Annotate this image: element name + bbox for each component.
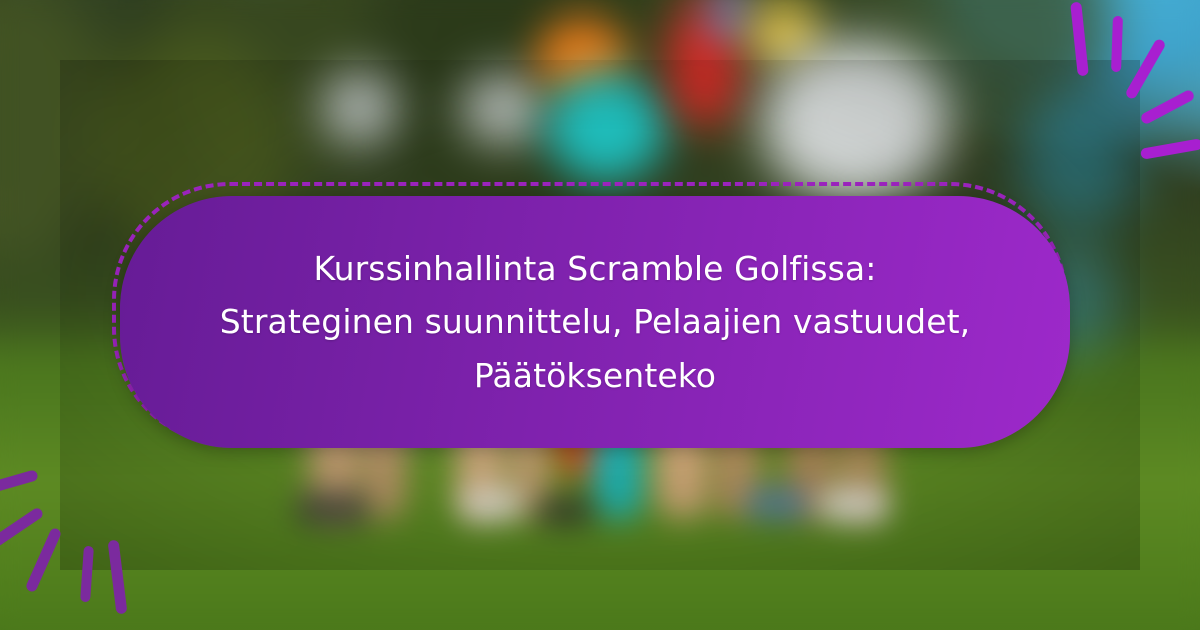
sparkle-dash — [1111, 16, 1123, 72]
sparkle-dash — [1139, 89, 1195, 126]
sparkle-dash — [80, 546, 94, 603]
sparkle-dash — [1124, 38, 1167, 101]
sparkle-dash — [0, 506, 45, 548]
sparkle-dash — [1140, 138, 1200, 160]
page-title: Kurssinhallinta Scramble Golfissa: Strat… — [215, 242, 975, 402]
sparkle-dash — [25, 527, 63, 594]
sparkle-burst-bottom-left — [0, 442, 170, 622]
sparkle-dash — [0, 469, 39, 497]
sparkle-dash — [1070, 2, 1089, 77]
sparkle-burst-top-right — [1038, 0, 1198, 190]
social-share-card: Kurssinhallinta Scramble Golfissa: Strat… — [0, 0, 1200, 630]
sparkle-dash — [108, 540, 128, 615]
headline-card: Kurssinhallinta Scramble Golfissa: Strat… — [120, 196, 1070, 448]
